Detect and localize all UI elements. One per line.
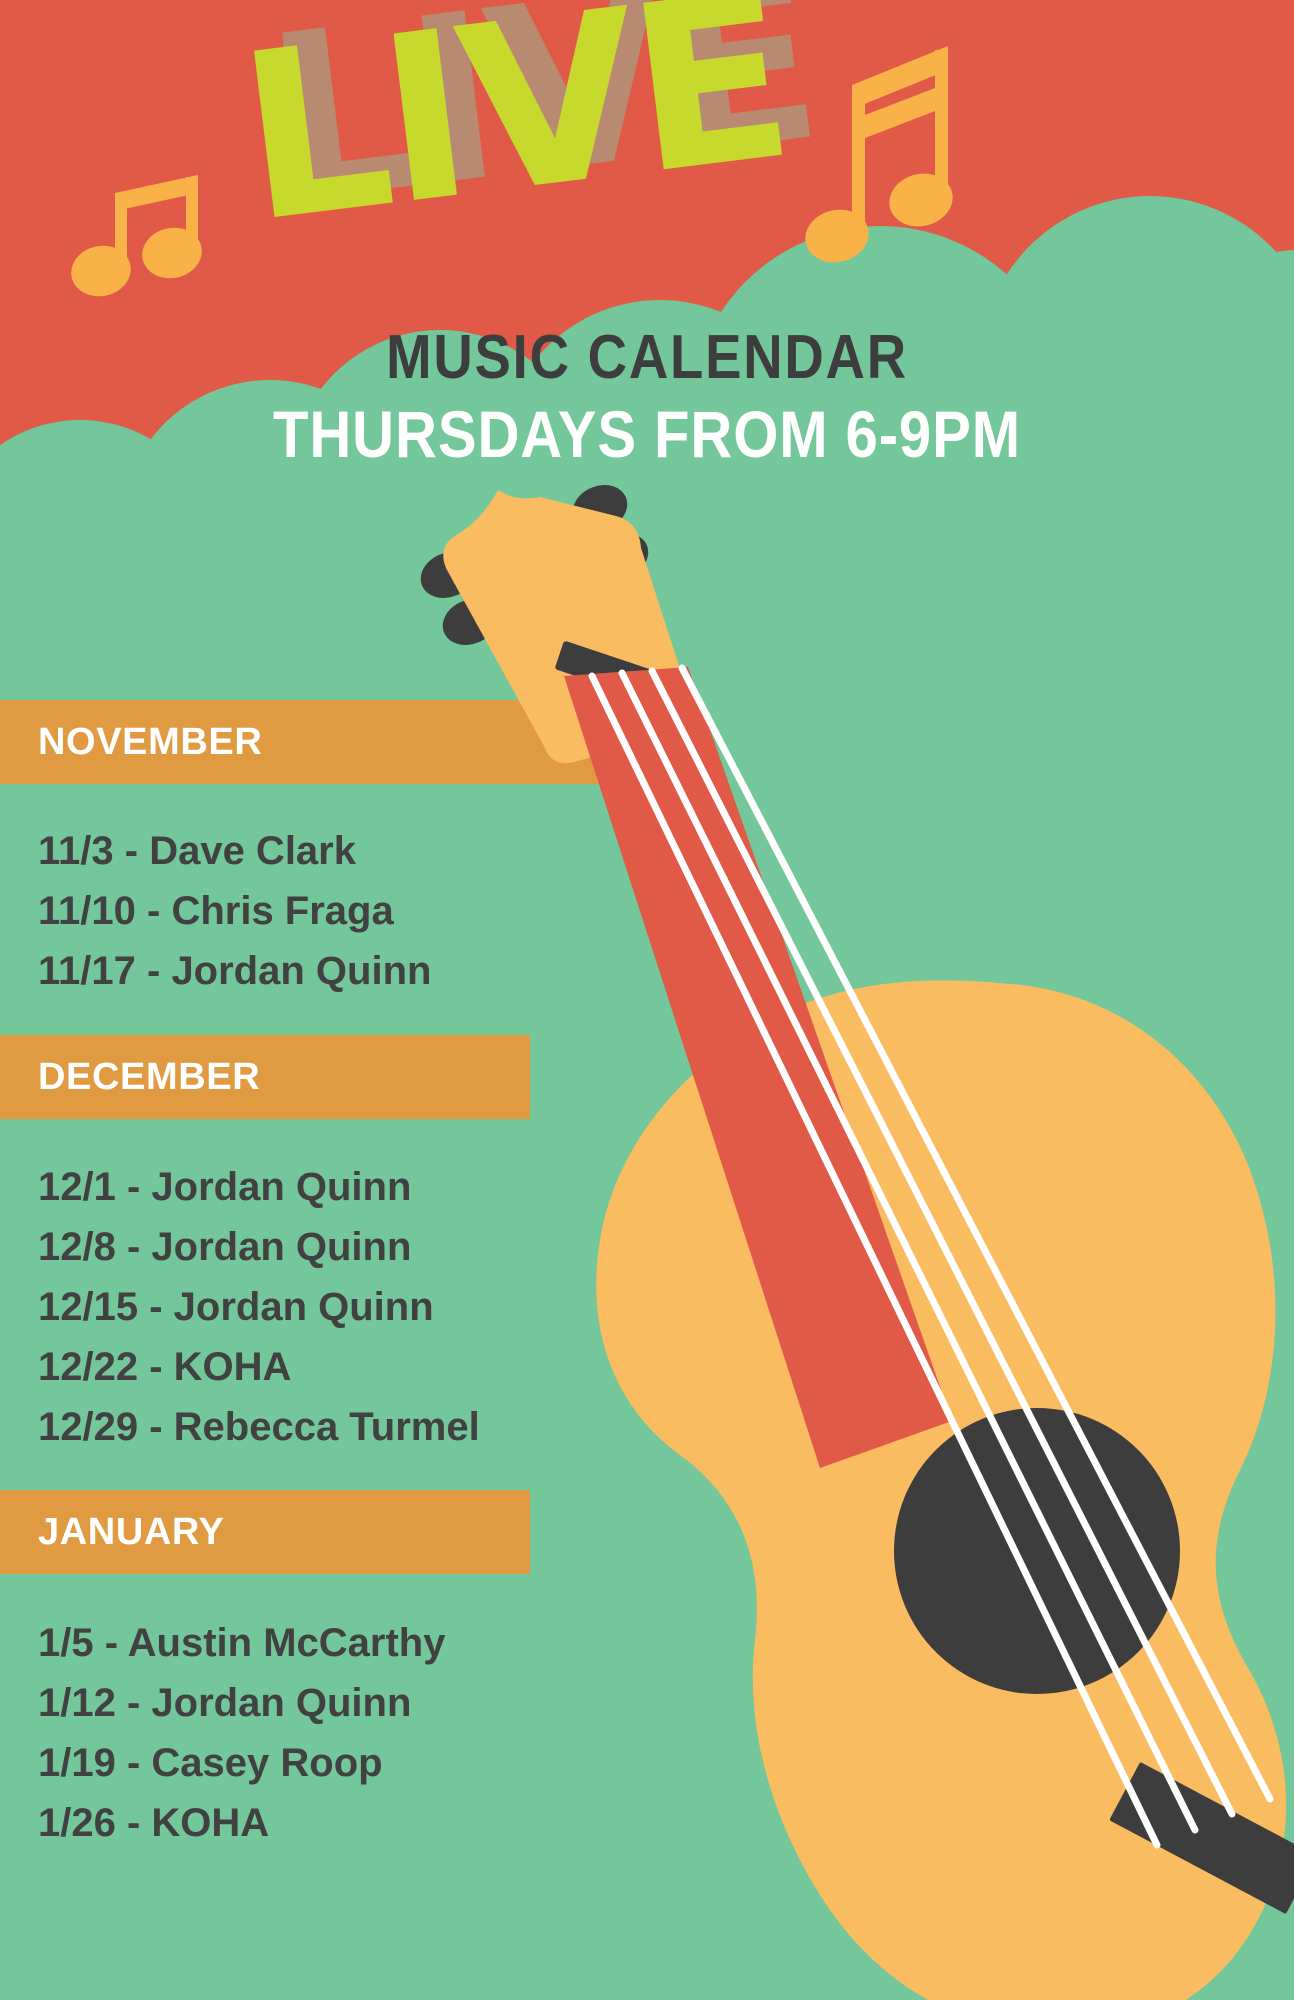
event-item: 12/29 - Rebecca Turmel [38, 1402, 480, 1452]
month-label-november: NOVEMBER [38, 721, 262, 764]
event-item: 12/1 - Jordan Quinn [38, 1162, 480, 1212]
event-item: 11/3 - Dave Clark [38, 826, 431, 876]
thursdays-subheading: THURSDAYS FROM 6-9PM [78, 396, 1217, 472]
event-list-november: 11/3 - Dave Clark 11/10 - Chris Fraga 11… [38, 826, 431, 996]
event-item: 11/10 - Chris Fraga [38, 886, 431, 936]
month-label-january: JANUARY [38, 1511, 224, 1554]
event-item: 1/5 - Austin McCarthy [38, 1618, 445, 1668]
month-band-december: DECEMBER [0, 1035, 530, 1119]
music-calendar-heading: MUSIC CALENDAR [78, 322, 1217, 393]
event-item: 1/26 - KOHA [38, 1798, 445, 1848]
event-item: 11/17 - Jordan Quinn [38, 946, 431, 996]
event-item: 1/19 - Casey Roop [38, 1738, 445, 1788]
event-list-december: 12/1 - Jordan Quinn 12/8 - Jordan Quinn … [38, 1162, 480, 1452]
event-item: 12/15 - Jordan Quinn [38, 1282, 480, 1332]
month-label-december: DECEMBER [38, 1056, 260, 1099]
month-band-november: NOVEMBER [0, 700, 640, 784]
live-title: LIVE LIVE [230, 28, 990, 328]
live-music-calendar-poster: LIVE LIVE MUSIC CALENDAR THURSDAYS FROM … [0, 0, 1294, 2000]
live-title-text: LIVE [230, 0, 797, 256]
event-item: 1/12 - Jordan Quinn [38, 1678, 445, 1728]
event-item: 12/8 - Jordan Quinn [38, 1222, 480, 1272]
event-item: 12/22 - KOHA [38, 1342, 480, 1392]
month-band-january: JANUARY [0, 1490, 530, 1574]
music-note-left-icon [70, 165, 220, 315]
event-list-january: 1/5 - Austin McCarthy 1/12 - Jordan Quin… [38, 1618, 445, 1848]
